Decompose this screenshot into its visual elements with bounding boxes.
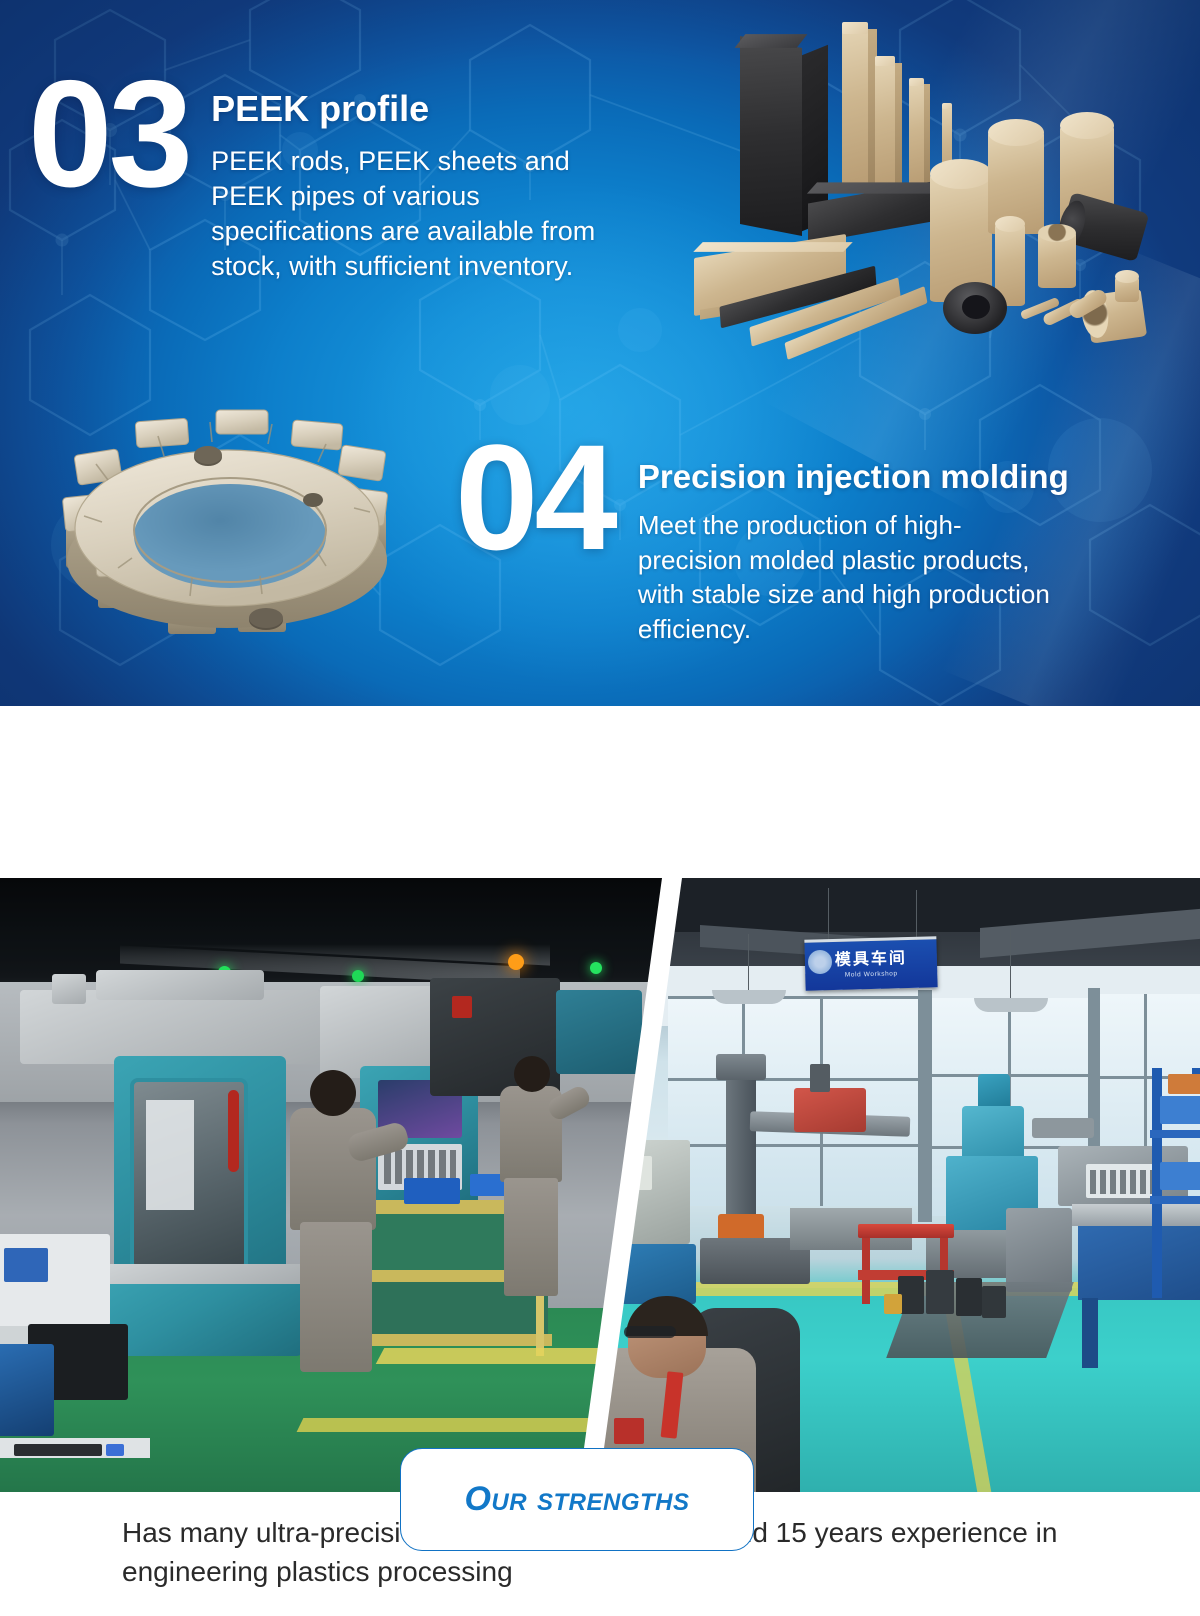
our-strengths-box: Our strengths	[400, 1448, 754, 1551]
workshop-photo-collage: 模具车间 Mold Workshop	[0, 878, 1200, 1492]
feature-number-04: 04	[455, 436, 614, 559]
feature-block-03: 03 PEEK profile PEEK rods, PEEK sheets a…	[28, 72, 643, 284]
features-panel: 03 PEEK profile PEEK rods, PEEK sheets a…	[0, 0, 1200, 706]
feature-title-04: Precision injection molding	[638, 458, 1069, 496]
our-strengths-label: Our strengths	[464, 1480, 689, 1519]
feature-title-03: PEEK profile	[211, 88, 643, 130]
feature-body-03: PEEK rods, PEEK sheets and PEEK pipes of…	[211, 144, 643, 284]
our-strengths-banner: Our strengths	[0, 706, 1200, 878]
photo-divider	[0, 878, 1200, 1492]
feature-block-04: 04 Precision injection molding Meet the …	[455, 436, 1069, 646]
peek-products-image	[690, 14, 1190, 364]
peek-gear-ring-image	[40, 400, 420, 665]
feature-body-04: Meet the production of high-precision mo…	[638, 508, 1058, 646]
feature-number-03: 03	[28, 72, 189, 197]
